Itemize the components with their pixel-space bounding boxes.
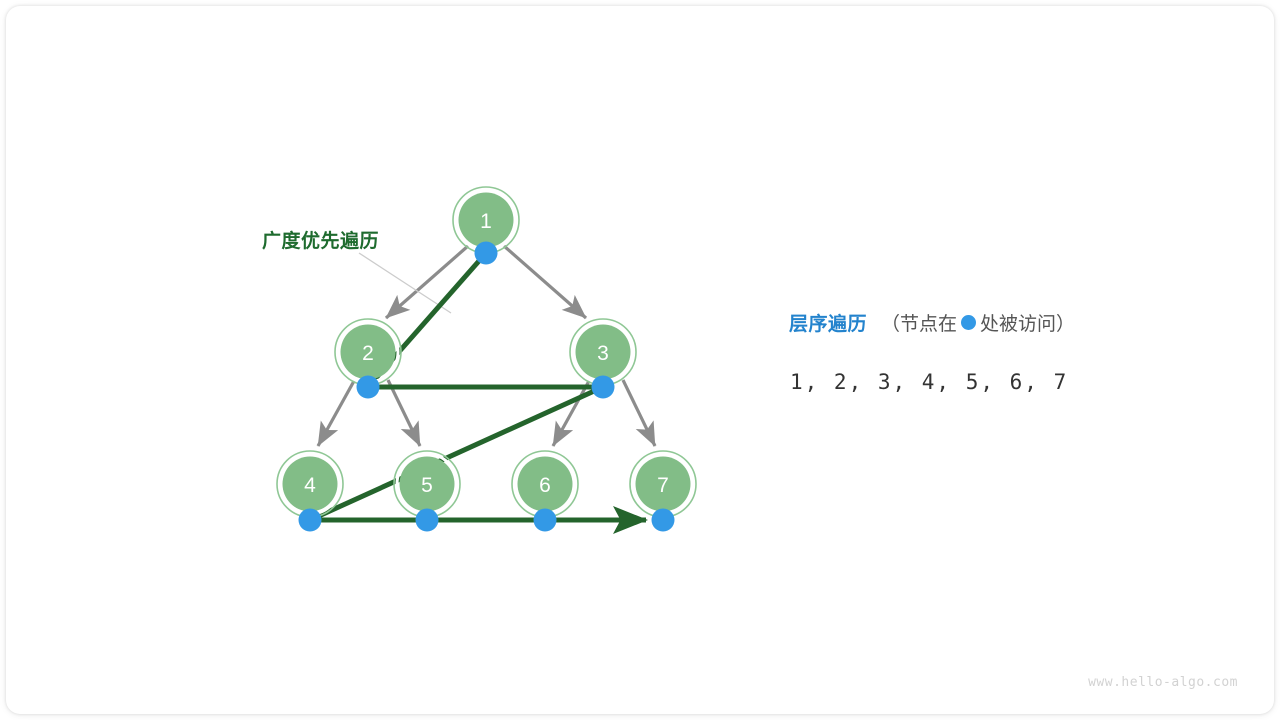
edge-2-4 bbox=[318, 381, 354, 446]
node-label: 6 bbox=[539, 474, 551, 497]
site-watermark: www.hello-algo.com bbox=[1088, 675, 1238, 690]
visit-dot-icon[interactable] bbox=[652, 509, 675, 532]
node-label: 1 bbox=[480, 210, 492, 233]
traversal-sequence: 1, 2, 3, 4, 5, 6, 7 bbox=[790, 370, 1068, 394]
visit-dot-icon[interactable] bbox=[475, 242, 498, 265]
legend-title: 层序遍历 bbox=[789, 309, 867, 336]
edge-2-5 bbox=[388, 380, 420, 446]
legend-note: （节点在 处被访问） bbox=[881, 309, 1075, 336]
visit-dot-icon[interactable] bbox=[416, 509, 439, 532]
visit-dot-icon[interactable] bbox=[534, 509, 557, 532]
legend: 层序遍历 （节点在 处被访问） bbox=[789, 309, 1075, 336]
bfs-annotation-label: 广度优先遍历 bbox=[262, 226, 379, 253]
node-label: 5 bbox=[421, 474, 433, 497]
legend-note-prefix: （节点在 bbox=[881, 309, 957, 336]
edge-1-2 bbox=[386, 246, 468, 318]
node-label: 2 bbox=[362, 342, 374, 365]
annotation-leader-line bbox=[359, 253, 451, 313]
legend-note-suffix: 处被访问） bbox=[980, 309, 1075, 336]
visit-dot-icon[interactable] bbox=[357, 376, 380, 399]
visit-dot-icon[interactable] bbox=[592, 376, 615, 399]
edge-3-6 bbox=[553, 381, 589, 446]
bfs-tree-diagram: 1 2 3 bbox=[6, 6, 1274, 714]
visit-dot-icon[interactable] bbox=[299, 509, 322, 532]
diagram-card: 1 2 3 bbox=[6, 6, 1274, 714]
blue-dot-icon bbox=[961, 315, 976, 330]
node-label: 7 bbox=[657, 474, 669, 497]
node-label: 4 bbox=[304, 474, 316, 497]
edge-1-3 bbox=[504, 246, 586, 318]
tree-node-1[interactable]: 1 bbox=[453, 187, 519, 265]
node-label: 3 bbox=[597, 342, 609, 365]
page-root: 1 2 3 bbox=[0, 0, 1280, 720]
edge-3-7 bbox=[623, 380, 655, 446]
